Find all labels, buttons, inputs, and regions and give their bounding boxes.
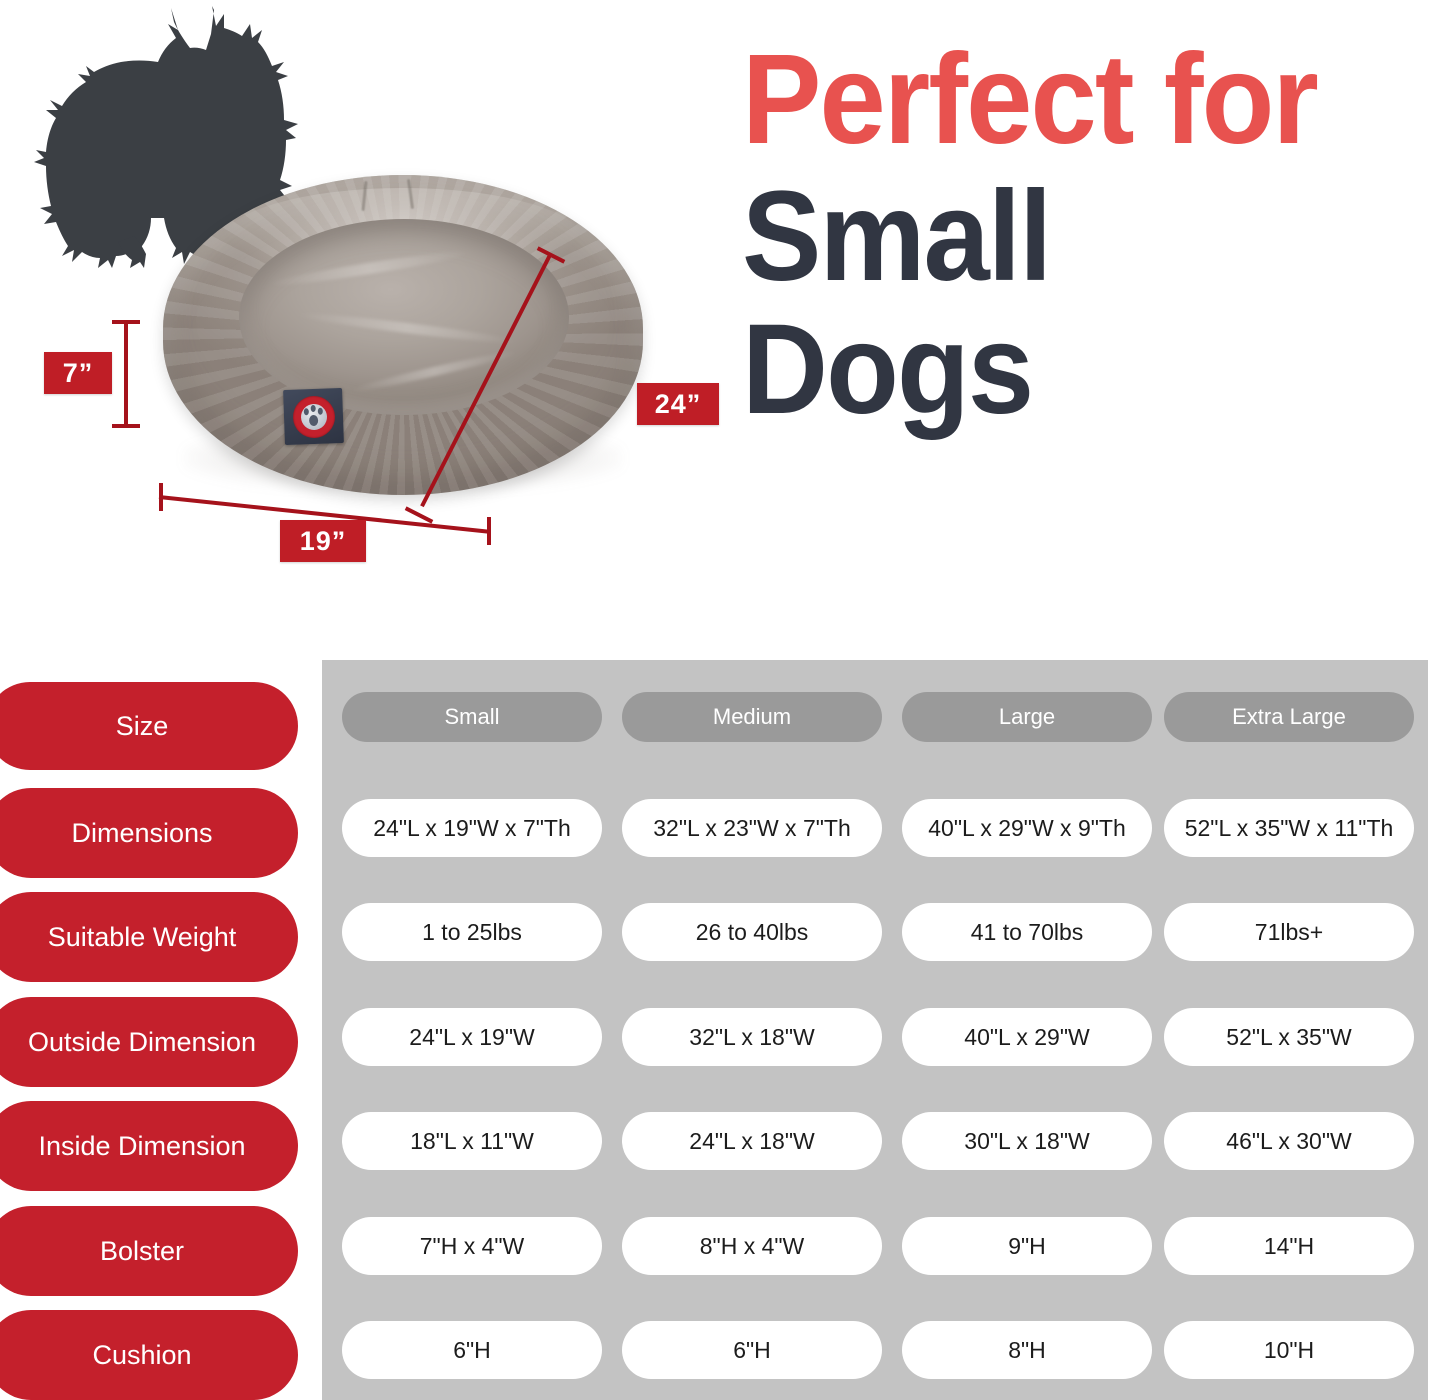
specification-table: SmallMediumLargeExtra Large24"L x 19"W x…	[0, 660, 1445, 1400]
width-tick-right	[487, 517, 491, 545]
row-label-inside-dimension: Inside Dimension	[0, 1101, 298, 1191]
table-cell: 32"L x 23"W x 7"Th	[622, 799, 882, 857]
headline-line-1: Perfect for	[742, 42, 1393, 157]
bed-bolster-ring	[163, 175, 643, 495]
width-tick-left	[159, 483, 163, 511]
table-cell: 24"L x 19"W x 7"Th	[342, 799, 602, 857]
table-cell: 10"H	[1164, 1321, 1414, 1379]
table-cell: 8"H x 4"W	[622, 1217, 882, 1275]
table-cell: 71lbs+	[1164, 903, 1414, 961]
row-label-column: SizeDimensionsSuitable WeightOutside Dim…	[0, 660, 322, 1400]
length-dimension-label: 24”	[637, 383, 719, 425]
table-cell: 40"L x 29"W x 9"Th	[902, 799, 1152, 857]
row-label-cushion: Cushion	[0, 1310, 298, 1400]
brand-tag	[283, 388, 344, 445]
column-header-large: Large	[902, 692, 1152, 742]
table-cell: 40"L x 29"W	[902, 1008, 1152, 1066]
height-tick-bottom	[112, 424, 140, 428]
table-cell: 14"H	[1164, 1217, 1414, 1275]
table-cell: 6"H	[342, 1321, 602, 1379]
column-header-medium: Medium	[622, 692, 882, 742]
headline-line-2: Small	[742, 179, 1393, 294]
table-cell: 6"H	[622, 1321, 882, 1379]
table-cell: 24"L x 19"W	[342, 1008, 602, 1066]
table-cell: 30"L x 18"W	[902, 1112, 1152, 1170]
column-header-extra-large: Extra Large	[1164, 692, 1414, 742]
row-label-bolster: Bolster	[0, 1206, 298, 1296]
paw-print-icon	[300, 403, 327, 430]
table-cell: 32"L x 18"W	[622, 1008, 882, 1066]
headline-line-3: Dogs	[742, 312, 1393, 427]
table-cell: 26 to 40lbs	[622, 903, 882, 961]
height-dimension-line	[124, 322, 128, 428]
dog-bed-product-image	[155, 165, 655, 525]
height-tick-top	[112, 320, 140, 324]
table-cell: 41 to 70lbs	[902, 903, 1152, 961]
row-label-suitable-weight: Suitable Weight	[0, 892, 298, 982]
table-cell: 46"L x 30"W	[1164, 1112, 1414, 1170]
table-cell: 52"L x 35"W x 11"Th	[1164, 799, 1414, 857]
row-label-dimensions: Dimensions	[0, 788, 298, 878]
width-dimension-label: 19”	[280, 520, 366, 562]
height-dimension-label: 7”	[44, 352, 112, 394]
brand-logo-ring	[292, 395, 335, 438]
cushion-wrinkle	[269, 247, 468, 289]
table-cell: 52"L x 35"W	[1164, 1008, 1414, 1066]
hero-section: 7” 19” 24” Perfect for Small Dogs	[0, 0, 1445, 640]
headline-block: Perfect for Small Dogs	[742, 42, 1442, 428]
cushion-wrinkle	[297, 310, 517, 347]
table-panel-background: SmallMediumLargeExtra Large24"L x 19"W x…	[322, 660, 1428, 1400]
row-label-size: Size	[0, 682, 298, 770]
table-cell: 9"H	[902, 1217, 1152, 1275]
table-cell: 1 to 25lbs	[342, 903, 602, 961]
row-label-outside-dimension: Outside Dimension	[0, 997, 298, 1087]
table-cell: 18"L x 11"W	[342, 1112, 602, 1170]
column-header-small: Small	[342, 692, 602, 742]
table-cell: 7"H x 4"W	[342, 1217, 602, 1275]
table-cell: 8"H	[902, 1321, 1152, 1379]
table-cell: 24"L x 18"W	[622, 1112, 882, 1170]
